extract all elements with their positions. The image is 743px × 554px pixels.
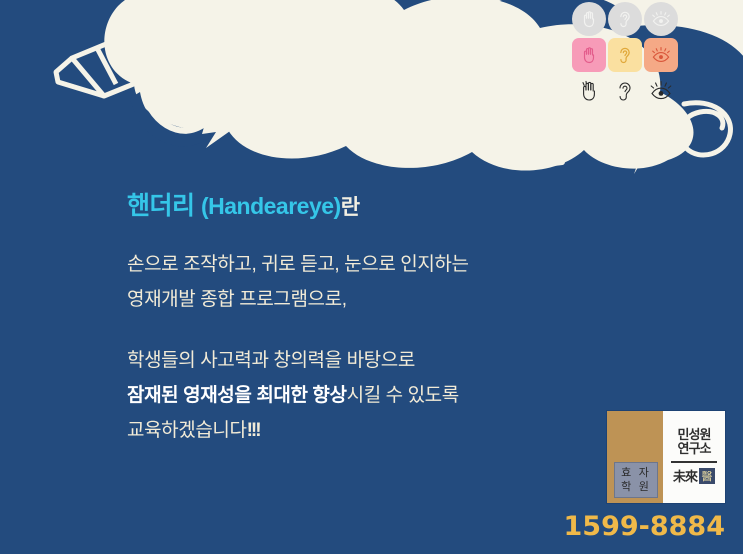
- emphasis-text: 잠재된 영재성을 최대한 향상: [127, 385, 347, 406]
- title-suffix: 란: [341, 196, 360, 219]
- hand-icon: [572, 2, 606, 36]
- paragraph-spacer: [127, 317, 647, 343]
- academy-line-2: 학 원: [621, 480, 651, 494]
- academy-badge: 효 자 학 원: [614, 462, 658, 498]
- eye-icon: [644, 2, 678, 36]
- paragraph-line: 교육하겠습니다!!!: [127, 413, 647, 448]
- sense-icon-matrix: [572, 2, 678, 108]
- institute-line-1: 민성원: [678, 429, 711, 443]
- logo-divider: [671, 461, 717, 463]
- academy-line-1: 효 자: [621, 466, 651, 480]
- logo-hanja-row: 未來 醫: [673, 466, 715, 485]
- paragraph-line: 영재개발 종합 프로그램으로,: [127, 282, 647, 317]
- paragraph-one: 손으로 조작하고, 귀로 듣고, 눈으로 인지하는 영재개발 종합 프로그램으로…: [127, 247, 647, 317]
- emphasis-tail: 시킬 수 있도록: [347, 385, 459, 406]
- title-korean: 핸더리: [127, 192, 195, 220]
- phone-number[interactable]: 1599-8884: [564, 511, 726, 542]
- paragraph-line-emphasis: 잠재된 영재성을 최대한 향상시킬 수 있도록: [127, 378, 647, 413]
- eye-icon: [644, 74, 678, 108]
- logo-white-panel: 민성원 연구소 未來 醫: [663, 411, 725, 503]
- ear-icon: [608, 74, 642, 108]
- eye-icon: [644, 38, 678, 72]
- copy-block: 핸더리 (Handeareye)란 손으로 조작하고, 귀로 듣고, 눈으로 인…: [127, 192, 647, 448]
- exclamation-marks: !!!: [247, 420, 260, 441]
- hanja-text: 未來: [673, 466, 697, 485]
- closing-text: 교육하겠습니다: [127, 420, 247, 441]
- paragraph-line: 손으로 조작하고, 귀로 듣고, 눈으로 인지하는: [127, 247, 647, 282]
- institute-line-2: 연구소: [678, 443, 711, 457]
- ear-icon: [608, 2, 642, 36]
- paragraph-line: 학생들의 사고력과 창의력을 바탕으로: [127, 343, 647, 378]
- hand-icon: [572, 74, 606, 108]
- logo-tan-panel: 효 자 학 원: [607, 411, 663, 503]
- page-title: 핸더리 (Handeareye)란: [127, 192, 647, 221]
- hand-icon: [572, 38, 606, 72]
- brand-logo: 효 자 학 원 민성원 연구소 未來 醫: [606, 410, 726, 504]
- poster-canvas: 핸더리 (Handeareye)란 손으로 조작하고, 귀로 듣고, 눈으로 인…: [0, 0, 743, 554]
- title-english: (Handeareye): [201, 193, 341, 219]
- seal-icon: 醫: [699, 468, 715, 484]
- ear-icon: [608, 38, 642, 72]
- paragraph-two: 학생들의 사고력과 창의력을 바탕으로 잠재된 영재성을 최대한 향상시킬 수 …: [127, 343, 647, 448]
